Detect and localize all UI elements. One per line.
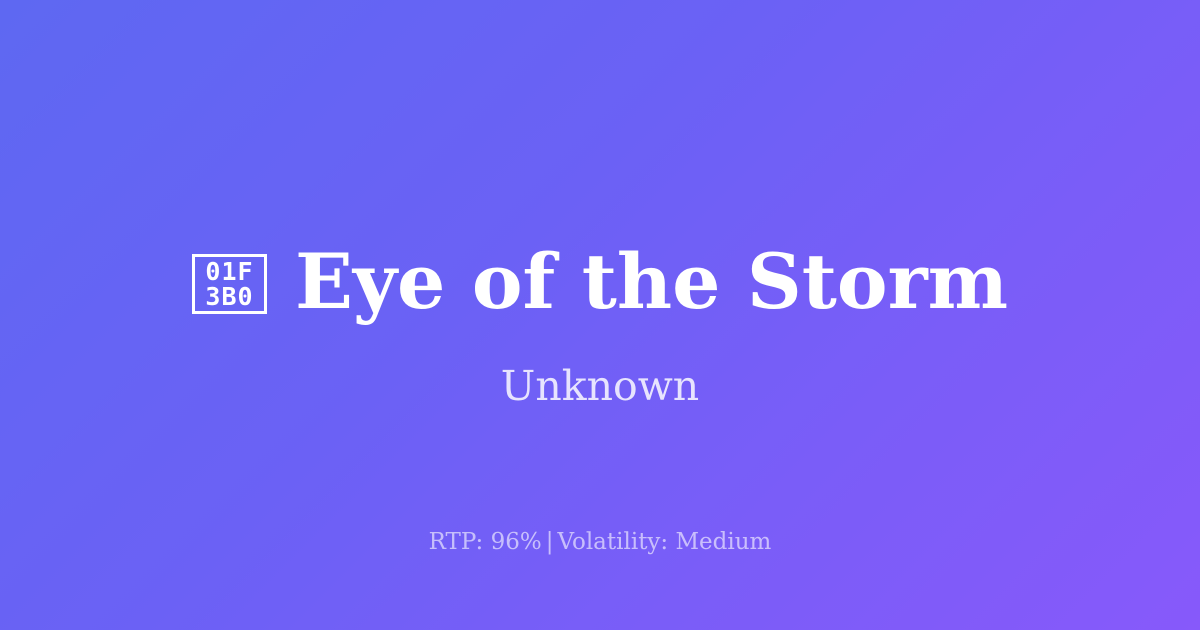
- slot-machine-icon: 01F 3B0: [192, 254, 267, 314]
- volatility-value: Volatility: Medium: [557, 529, 771, 555]
- stats-separator: |: [542, 529, 558, 555]
- page-title: 01F 3B0 Eye of the Storm: [192, 243, 1008, 321]
- rtp-value: RTP: 96%: [429, 529, 542, 555]
- slot-machine-icon-codepoint-lower: 3B0: [205, 284, 253, 309]
- game-title-text: Eye of the Storm: [295, 243, 1008, 321]
- game-preview-card: 01F 3B0 Eye of the Storm Unknown RTP: 96…: [0, 0, 1200, 630]
- game-provider-subtitle: Unknown: [0, 360, 1200, 412]
- title-block: 01F 3B0 Eye of the Storm: [0, 0, 1200, 597]
- slot-machine-icon-codepoint-upper: 01F: [205, 259, 253, 284]
- game-stats-footer: RTP: 96%|Volatility: Medium: [0, 527, 1200, 557]
